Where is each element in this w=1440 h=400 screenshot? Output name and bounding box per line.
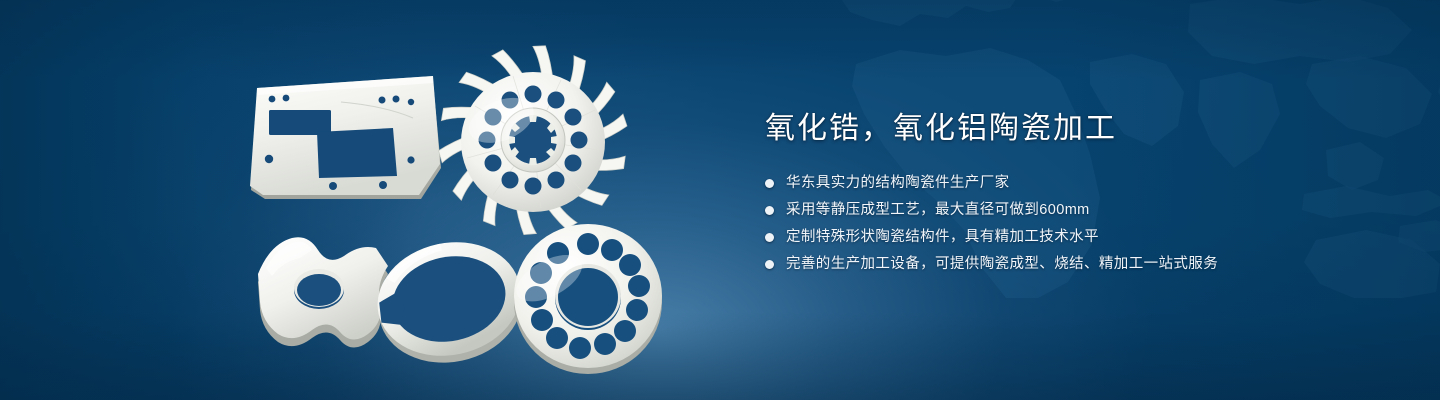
promo-banner: 氧化锆，氧化铝陶瓷加工 华东具实力的结构陶瓷件生产厂家 采用等静压成型工艺，最大…	[0, 0, 1440, 400]
feature-text: 华东具实力的结构陶瓷件生产厂家	[786, 170, 1010, 196]
ceramic-plate-part	[245, 72, 445, 207]
feature-text: 定制特殊形状陶瓷结构件，具有精加工技术水平	[786, 224, 1099, 250]
banner-feature-list: 华东具实力的结构陶瓷件生产厂家 采用等静压成型工艺，最大直径可做到600mm 定…	[765, 170, 1385, 277]
bullet-dot-icon	[765, 260, 774, 269]
banner-headline: 氧化锆，氧化铝陶瓷加工	[765, 108, 1385, 150]
list-item: 华东具实力的结构陶瓷件生产厂家	[765, 170, 1385, 196]
list-item: 定制特殊形状陶瓷结构件，具有精加工技术水平	[765, 224, 1385, 250]
bullet-dot-icon	[765, 233, 774, 242]
feature-text: 完善的生产加工设备，可提供陶瓷成型、烧结、精加工一站式服务	[786, 251, 1218, 277]
bullet-dot-icon	[765, 206, 774, 215]
bullet-dot-icon	[765, 179, 774, 188]
banner-copy: 氧化锆，氧化铝陶瓷加工 华东具实力的结构陶瓷件生产厂家 采用等静压成型工艺，最大…	[765, 108, 1385, 278]
ceramic-disc-part	[512, 222, 672, 380]
ceramic-products-artwork	[0, 0, 720, 400]
ceramic-impeller-part	[438, 45, 628, 235]
feature-text: 采用等静压成型工艺，最大直径可做到600mm	[786, 197, 1090, 223]
list-item: 完善的生产加工设备，可提供陶瓷成型、烧结、精加工一站式服务	[765, 251, 1385, 277]
list-item: 采用等静压成型工艺，最大直径可做到600mm	[765, 197, 1385, 223]
